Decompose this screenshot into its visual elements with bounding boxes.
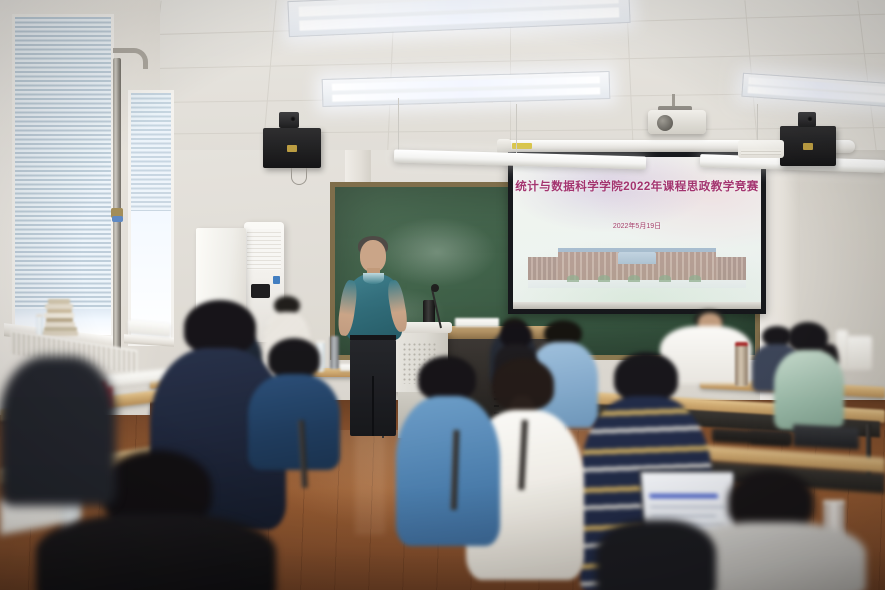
classroom-photo: 统计与数据科学学院2022年课程思政教学竞赛 2022年5月19日 [0, 0, 885, 590]
attendee-dark-far-left [0, 356, 116, 506]
tissue-box [846, 336, 872, 370]
window-blinds [15, 17, 111, 317]
ac-vent-grille [247, 229, 281, 270]
projection-screen: 统计与数据科学学院2022年课程思政教学竞赛 2022年5月19日 [508, 152, 766, 314]
ac-brand-badge [273, 276, 280, 284]
screen-bottom-edge [513, 302, 761, 309]
ceiling-projector [648, 110, 706, 134]
thermos [735, 342, 748, 386]
book-stack-windowsill [42, 296, 78, 336]
air-conditioner-wall [738, 140, 784, 158]
presenter-collar [363, 273, 384, 284]
attendee-blue-far-left [248, 338, 340, 468]
projection-screen-surface: 统计与数据科学学院2022年课程思政教学竞赛 2022年5月19日 [513, 157, 761, 309]
roller-warning-label [512, 143, 532, 149]
slide-date: 2022年5月19日 [513, 221, 761, 231]
hanging-light-wire-1 [398, 98, 399, 156]
wall-camera [279, 112, 299, 128]
slide-title: 统计与数据科学学院2022年课程思政教学竞赛 [513, 178, 761, 194]
tablet [793, 424, 859, 449]
pipe-clamp [112, 216, 123, 222]
projector-lens [657, 115, 673, 131]
microphone-head [431, 284, 439, 292]
presenter-belt [350, 335, 396, 340]
wall-speaker-right [780, 126, 836, 166]
attendee-dark-front-right [596, 520, 716, 590]
attendee-blue-polo-mid [396, 356, 500, 546]
slide-building-photo [528, 233, 746, 288]
wall-speaker-left [263, 128, 321, 168]
wall-camera-right [798, 112, 816, 127]
pipe-elbow [113, 48, 148, 69]
hanging-light-wire-2 [516, 104, 517, 160]
window-blinds-far [131, 93, 171, 211]
window-near [12, 14, 114, 338]
speaker-cable-left [291, 168, 307, 185]
attendee-mint-top [772, 322, 846, 432]
presenter-leg-split [372, 376, 374, 436]
